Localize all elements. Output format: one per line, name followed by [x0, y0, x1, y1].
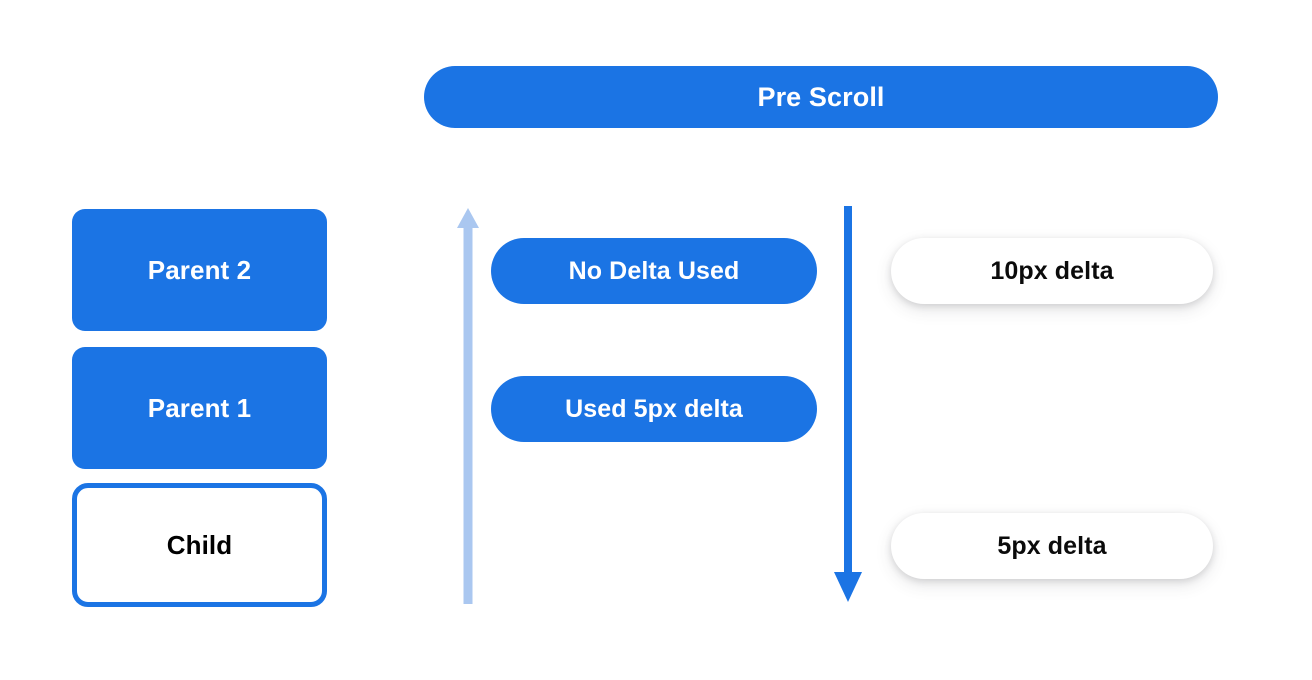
node-box-child: Child — [72, 483, 327, 607]
down-arrow-icon — [828, 206, 868, 606]
pre-scroll-header-label: Pre Scroll — [757, 82, 884, 113]
pill-5px-delta-label: 5px delta — [997, 532, 1106, 561]
pill-used-5px-delta-label: Used 5px delta — [565, 395, 743, 424]
pill-5px-delta: 5px delta — [891, 513, 1213, 579]
pill-used-5px-delta: Used 5px delta — [491, 376, 817, 442]
node-box-parent-1: Parent 1 — [72, 347, 327, 469]
pre-scroll-header-bar: Pre Scroll — [424, 66, 1218, 128]
pill-no-delta-used-label: No Delta Used — [569, 257, 740, 286]
up-arrow-icon — [448, 206, 488, 606]
node-box-parent-2: Parent 2 — [72, 209, 327, 331]
pill-no-delta-used: No Delta Used — [491, 238, 817, 304]
node-box-parent-2-label: Parent 2 — [148, 255, 251, 286]
diagram-canvas: Pre Scroll Parent 2 Parent 1 Child No De… — [0, 0, 1312, 680]
node-box-child-label: Child — [167, 530, 233, 561]
pill-10px-delta: 10px delta — [891, 238, 1213, 304]
node-box-parent-1-label: Parent 1 — [148, 393, 251, 424]
pill-10px-delta-label: 10px delta — [990, 257, 1113, 286]
